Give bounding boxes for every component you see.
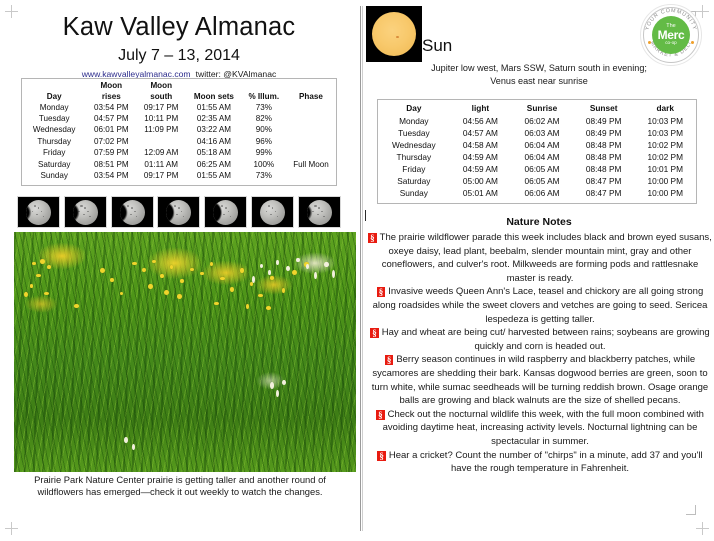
moon-cell-sets: 06:25 AM — [186, 159, 241, 170]
planet-line-1: Jupiter low west, Mars SSW, Saturn south… — [364, 62, 714, 75]
moon-cell-rises: 03:54 PM — [86, 102, 136, 113]
right-column: Sun YOUR COMMUNITY MARKET & DELI The Mer — [364, 0, 714, 541]
wildflower-bloom-white — [276, 260, 279, 265]
moon-cell-day: Wednesday — [22, 125, 86, 136]
moon-cell-south: 09:17 PM — [136, 170, 186, 181]
sun-table: Day light Sunrise Sunset dark Monday04:5… — [377, 99, 697, 204]
moon-header-rises-top: Moon — [86, 81, 136, 92]
nature-note-text: The prairie wildflower parade this week … — [380, 232, 712, 284]
wildflower-bloom-white — [296, 258, 300, 262]
nature-notes-list: §The prairie wildflower parade this week… — [368, 231, 712, 476]
moon-cell-day: Thursday — [22, 136, 86, 147]
sun-cell-dark: 10:00 PM — [634, 187, 696, 199]
moon-header-sets: Moon sets — [186, 92, 241, 103]
nature-note-item: §Check out the nocturnal wildlife this w… — [368, 408, 712, 449]
merc-logo-coop: co-op — [665, 41, 677, 46]
moon-header-south: south — [136, 92, 186, 103]
sun-cell-sunrise: 06:05 AM — [511, 175, 573, 187]
moon-phase-icon — [64, 196, 107, 228]
sun-cell-dark: 10:01 PM — [634, 163, 696, 175]
table-row: Sunday05:01 AM06:06 AM08:47 PM10:00 PM — [378, 187, 696, 199]
sun-cell-day: Sunday — [378, 187, 450, 199]
moon-cell-rises: 03:54 PM — [86, 170, 136, 181]
almanac-page: Kaw Valley Almanac July 7 – 13, 2014 www… — [0, 0, 714, 541]
sun-cell-dark: 10:03 PM — [634, 127, 696, 139]
sun-header-day: Day — [378, 103, 450, 115]
moon-cell-rises: 06:01 PM — [86, 125, 136, 136]
table-row: Thursday04:59 AM06:04 AM08:48 PM10:02 PM — [378, 151, 696, 163]
sun-cell-light: 05:01 AM — [450, 187, 512, 199]
table-row: Friday04:59 AM06:05 AM08:48 PM10:01 PM — [378, 163, 696, 175]
wildflower-bloom — [44, 292, 49, 295]
merc-coop-logo: YOUR COMMUNITY MARKET & DELI The Merc co… — [640, 4, 702, 66]
sun-header-light: light — [450, 103, 512, 115]
sun-cell-sunset: 08:48 PM — [573, 163, 635, 175]
section-marker-icon: § — [385, 355, 394, 365]
section-marker-icon: § — [370, 328, 379, 338]
wildflower-bloom — [250, 282, 253, 286]
moon-cell-sets: 01:55 AM — [186, 102, 241, 113]
sun-header-dark: dark — [634, 103, 696, 115]
wildflower-bloom — [110, 278, 114, 282]
prairie-photo-image — [14, 232, 356, 472]
page-title: Kaw Valley Almanac — [0, 13, 358, 42]
wildflower-bloom-white — [286, 266, 290, 271]
wildflower-bloom — [292, 270, 297, 275]
wildflower-bloom — [142, 268, 146, 272]
sun-cell-dark: 10:03 PM — [634, 115, 696, 127]
wildflower-bloom — [148, 284, 153, 289]
wildflower-bloom — [32, 262, 36, 265]
sun-cell-day: Tuesday — [378, 127, 450, 139]
moon-cell-south: 01:11 AM — [136, 159, 186, 170]
photo-caption: Prairie Park Nature Center prairie is ge… — [10, 474, 350, 499]
nature-note-item: §The prairie wildflower parade this week… — [368, 231, 712, 285]
wildflower-bloom — [30, 284, 33, 288]
moon-cell-illum: 82% — [242, 113, 286, 124]
wildflower-bloom-white — [276, 390, 279, 397]
moon-cell-phase — [286, 102, 336, 113]
moon-cell-day: Sunday — [22, 170, 86, 181]
wildflower-bloom — [282, 288, 285, 293]
moon-cell-rises: 08:51 PM — [86, 159, 136, 170]
moon-table-header-row-1: Moon Moon — [22, 81, 336, 92]
section-marker-icon: § — [376, 410, 385, 420]
moon-header-day: Day — [22, 92, 86, 103]
moon-cell-day: Tuesday — [22, 113, 86, 124]
moon-header-blank — [242, 81, 286, 92]
moon-header-south-top: Moon — [136, 81, 186, 92]
wildflower-bloom — [74, 304, 79, 308]
moon-header-illum: % Illum. — [242, 92, 286, 103]
table-row: Friday07:59 PM12:09 AM05:18 AM99% — [22, 148, 336, 159]
sun-cell-sunset: 08:49 PM — [573, 127, 635, 139]
moon-cell-south: 10:11 PM — [136, 113, 186, 124]
column-divider — [360, 6, 361, 531]
sun-cell-day: Monday — [378, 115, 450, 127]
merc-logo-inner: The Merc co-op — [652, 16, 690, 54]
moon-cell-sets: 01:55 AM — [186, 170, 241, 181]
moon-header-blank — [186, 81, 241, 92]
moon-phase-icon — [298, 196, 341, 228]
moon-phase-icon — [251, 196, 294, 228]
sun-cell-day: Friday — [378, 163, 450, 175]
sun-cell-light: 04:59 AM — [450, 151, 512, 163]
sun-cell-sunrise: 06:05 AM — [511, 163, 573, 175]
prairie-photo — [14, 232, 356, 472]
sun-cell-dark: 10:02 PM — [634, 139, 696, 151]
moon-cell-day: Monday — [22, 102, 86, 113]
moon-cell-south: 09:17 PM — [136, 102, 186, 113]
wildflower-bloom-white — [306, 264, 309, 269]
moon-cell-south: 12:09 AM — [136, 148, 186, 159]
wildflower-bloom — [266, 306, 271, 310]
moon-cell-rises: 07:59 PM — [86, 148, 136, 159]
sun-header-sunset: Sunset — [573, 103, 635, 115]
moon-cell-illum: 73% — [242, 170, 286, 181]
moon-phase-icon — [17, 196, 60, 228]
sun-disc — [372, 12, 416, 56]
sun-label: Sun — [422, 36, 452, 56]
wildflower-bloom — [170, 265, 173, 269]
planet-visibility: Jupiter low west, Mars SSW, Saturn south… — [364, 62, 714, 87]
masthead: Kaw Valley Almanac July 7 – 13, 2014 www… — [0, 13, 358, 79]
wildflower-bloom — [47, 265, 51, 269]
moon-cell-phase — [286, 113, 336, 124]
moon-cell-phase — [286, 136, 336, 147]
table-row: Wednesday06:01 PM11:09 PM03:22 AM90% — [22, 125, 336, 136]
wildflower-bloom-white — [324, 262, 329, 267]
wildflower-bloom — [200, 272, 204, 275]
table-row: Wednesday04:58 AM06:04 AM08:48 PM10:02 P… — [378, 139, 696, 151]
sun-cell-light: 04:58 AM — [450, 139, 512, 151]
wildflower-bloom-white — [268, 270, 271, 275]
wildflower-bloom-white — [252, 276, 255, 283]
sun-icon — [366, 6, 422, 62]
sun-cell-day: Thursday — [378, 151, 450, 163]
sun-cell-sunrise: 06:03 AM — [511, 127, 573, 139]
moon-header-blank — [286, 81, 336, 92]
wildflower-bloom — [230, 287, 234, 292]
wildflower-bloom-white — [124, 437, 128, 443]
table-row: Monday03:54 PM09:17 PM01:55 AM73% — [22, 102, 336, 113]
table-row: Thursday07:02 PM04:16 AM96% — [22, 136, 336, 147]
table-row: Sunday03:54 PM09:17 PM01:55 AM73% — [22, 170, 336, 181]
moon-cell-day: Friday — [22, 148, 86, 159]
moon-cell-sets: 05:18 AM — [186, 148, 241, 159]
planet-line-2: Venus east near sunrise — [364, 75, 714, 88]
sun-spot — [396, 36, 399, 38]
moon-header-phase: Phase — [286, 92, 336, 103]
moon-table-header-row-2: Day rises south Moon sets % Illum. Phase — [22, 92, 336, 103]
sun-cell-light: 04:59 AM — [450, 163, 512, 175]
moon-phase-strip — [17, 196, 341, 228]
moon-phase-icon — [157, 196, 200, 228]
sun-cell-sunrise: 06:04 AM — [511, 151, 573, 163]
nature-note-text: Berry season continues in wild raspberry… — [372, 354, 708, 406]
moon-cell-phase: Full Moon — [286, 159, 336, 170]
moon-cell-phase — [286, 125, 336, 136]
moon-cell-illum: 90% — [242, 125, 286, 136]
sun-cell-day: Saturday — [378, 175, 450, 187]
moon-cell-sets: 03:22 AM — [186, 125, 241, 136]
merc-logo-dot-icon — [691, 41, 694, 44]
section-marker-icon: § — [377, 451, 386, 461]
moon-cell-rises: 04:57 PM — [86, 113, 136, 124]
sun-cell-light: 05:00 AM — [450, 175, 512, 187]
section-marker-icon: § — [368, 233, 377, 243]
moon-cell-phase — [286, 170, 336, 181]
nature-note-item: §Invasive weeds Queen Ann's Lace, teasel… — [368, 285, 712, 326]
sun-cell-light: 04:57 AM — [450, 127, 512, 139]
date-range: July 7 – 13, 2014 — [0, 47, 358, 65]
moon-cell-illum: 73% — [242, 102, 286, 113]
table-row: Tuesday04:57 AM06:03 AM08:49 PM10:03 PM — [378, 127, 696, 139]
nature-note-item: §Berry season continues in wild raspberr… — [368, 353, 712, 407]
sun-header-sunrise: Sunrise — [511, 103, 573, 115]
sun-cell-sunset: 08:47 PM — [573, 175, 635, 187]
table-row: Tuesday04:57 PM10:11 PM02:35 AM82% — [22, 113, 336, 124]
nature-note-text: Invasive weeds Queen Ann's Lace, teasel … — [373, 286, 708, 324]
nature-note-item: §Hear a cricket? Count the number of "ch… — [368, 449, 712, 476]
sun-table-header-row: Day light Sunrise Sunset dark — [378, 103, 696, 115]
moon-header-blank — [22, 81, 86, 92]
sun-cell-day: Wednesday — [378, 139, 450, 151]
moon-cell-rises: 07:02 PM — [86, 136, 136, 147]
sun-cell-sunset: 08:49 PM — [573, 115, 635, 127]
wildflower-bloom — [220, 277, 225, 280]
sun-cell-dark: 10:02 PM — [634, 151, 696, 163]
wildflower-bloom-white — [332, 270, 335, 278]
moon-header-rises: rises — [86, 92, 136, 103]
nature-note-text: Check out the nocturnal wildlife this we… — [383, 409, 704, 447]
sun-cell-light: 04:56 AM — [450, 115, 512, 127]
nature-note-item: §Hay and wheat are being cut/ harvested … — [368, 326, 712, 353]
nature-notes-title: Nature Notes — [364, 216, 714, 228]
sun-cell-sunset: 08:48 PM — [573, 139, 635, 151]
wildflower-bloom-white — [132, 444, 135, 450]
wildflower-bloom — [177, 294, 182, 299]
sun-cell-dark: 10:00 PM — [634, 175, 696, 187]
sun-cell-sunrise: 06:04 AM — [511, 139, 573, 151]
moon-cell-illum: 96% — [242, 136, 286, 147]
moon-phase-icon — [111, 196, 154, 228]
moon-phase-icon — [204, 196, 247, 228]
table-row: Saturday05:00 AM06:05 AM08:47 PM10:00 PM — [378, 175, 696, 187]
moon-cell-illum: 100% — [242, 159, 286, 170]
column-divider-shadow — [362, 6, 363, 531]
sun-cell-sunrise: 06:02 AM — [511, 115, 573, 127]
wildflower-bloom-white — [314, 272, 317, 279]
merc-logo-dot-icon — [648, 41, 651, 44]
moon-cell-day: Saturday — [22, 159, 86, 170]
moon-table: Moon Moon Day rises south Moon sets % Il… — [21, 78, 337, 186]
table-row: Saturday08:51 PM01:11 AM06:25 AM100%Full… — [22, 159, 336, 170]
wildflower-bloom — [258, 294, 263, 297]
wildflower-bloom — [240, 268, 244, 273]
sun-cell-sunrise: 06:06 AM — [511, 187, 573, 199]
moon-cell-south: 11:09 PM — [136, 125, 186, 136]
wildflower-bloom — [180, 279, 184, 283]
moon-cell-sets: 04:16 AM — [186, 136, 241, 147]
moon-cell-south — [136, 136, 186, 147]
moon-cell-illum: 99% — [242, 148, 286, 159]
moon-cell-sets: 02:35 AM — [186, 113, 241, 124]
sun-cell-sunset: 08:47 PM — [573, 187, 635, 199]
table-row: Monday04:56 AM06:02 AM08:49 PM10:03 PM — [378, 115, 696, 127]
wildflower-bloom-white — [270, 382, 274, 389]
section-marker-icon: § — [377, 287, 386, 297]
nature-note-text: Hear a cricket? Count the number of "chi… — [389, 450, 703, 475]
nature-note-text: Hay and wheat are being cut/ harvested b… — [382, 327, 710, 352]
moon-cell-phase — [286, 148, 336, 159]
left-column: Kaw Valley Almanac July 7 – 13, 2014 www… — [0, 0, 358, 541]
sun-cell-sunset: 08:48 PM — [573, 151, 635, 163]
